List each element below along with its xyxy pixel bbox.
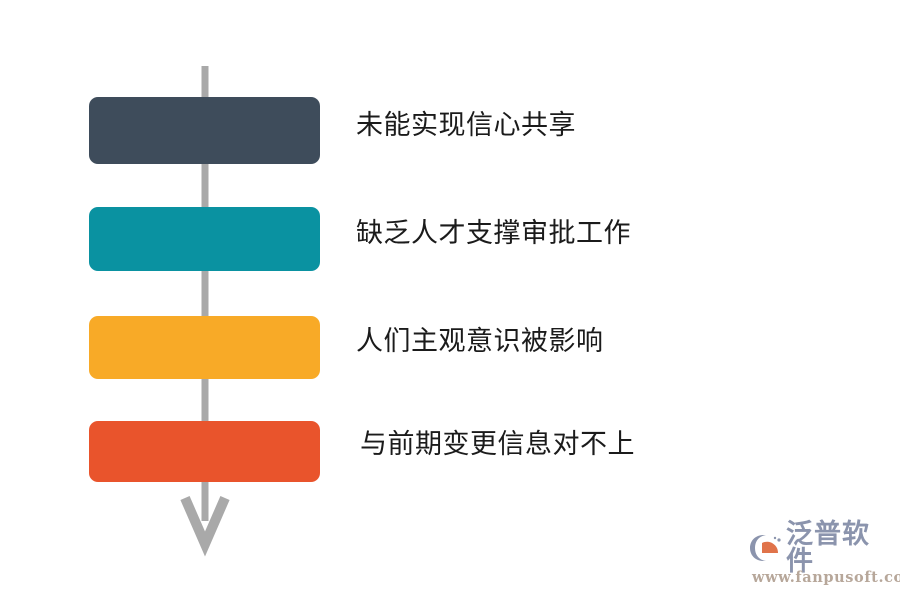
stage-label-1: 未能实现信心共享 [356, 109, 576, 143]
stage-label-2: 缺乏人才支撑审批工作 [356, 217, 631, 251]
stage-label-4: 与前期变更信息对不上 [360, 428, 635, 462]
process-stage-1: 未能实现信心共享 [0, 95, 900, 165]
stage-bar-1[interactable] [89, 97, 320, 164]
stage-bar-4[interactable] [89, 421, 320, 482]
brand-name: 泛普软件 [786, 521, 886, 575]
stage-bar-2[interactable] [89, 207, 320, 271]
process-stage-3: 人们主观意识被影响 [0, 312, 900, 382]
process-flow-diagram: 未能实现信心共享 缺乏人才支撑审批工作 人们主观意识被影响 与前期变更信息对不上… [0, 0, 900, 600]
process-stage-2: 缺乏人才支撑审批工作 [0, 204, 900, 274]
stage-label-3: 人们主观意识被影响 [356, 325, 604, 359]
stage-bar-3[interactable] [89, 316, 320, 379]
fanpu-logo-icon [750, 533, 782, 563]
brand-watermark: 泛普软件 www.fanpusoft.com [750, 524, 886, 586]
brand-url: www.fanpusoft.com [752, 569, 900, 586]
brand-top-row: 泛普软件 [750, 529, 886, 567]
process-stage-4: 与前期变更信息对不上 [0, 416, 900, 486]
